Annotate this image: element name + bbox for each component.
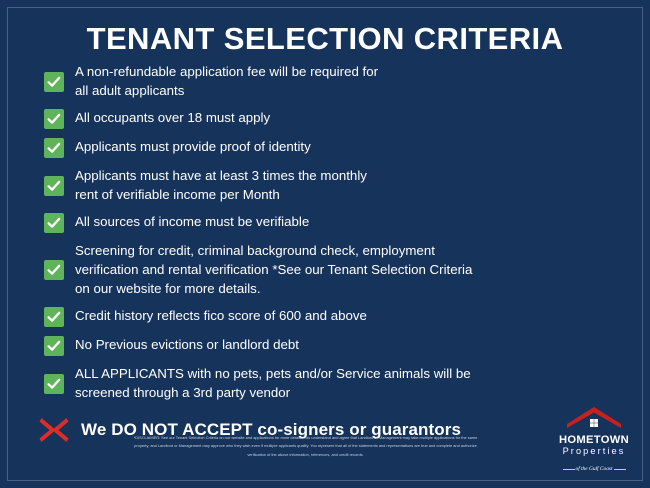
check-icon bbox=[44, 176, 64, 196]
list-item-line: Applicants must provide proof of identit… bbox=[75, 137, 311, 156]
company-logo: HOMETOWN Properties of the Gulf Coast bbox=[550, 406, 638, 475]
list-item-line: on our website for more details. bbox=[75, 279, 472, 298]
page-title: TENANT SELECTION CRITERIA bbox=[0, 21, 650, 57]
list-item-text: ALL APPLICANTS with no pets, pets and/or… bbox=[75, 364, 471, 402]
list-item: All sources of income must be verifiable bbox=[44, 212, 614, 233]
list-item: No Previous evictions or landlord debt bbox=[44, 335, 614, 356]
list-item-line: Credit history reflects fico score of 60… bbox=[75, 306, 367, 325]
check-icon bbox=[44, 138, 64, 158]
criteria-list: A non-refundable application fee will be… bbox=[44, 62, 614, 445]
check-icon bbox=[44, 213, 64, 233]
list-item: Screening for credit, criminal backgroun… bbox=[44, 241, 614, 298]
house-roof-icon bbox=[560, 406, 628, 433]
list-item-text: All sources of income must be verifiable bbox=[75, 212, 309, 231]
list-item-line: Screening for credit, criminal backgroun… bbox=[75, 241, 472, 260]
disclaimer-line: verification of the above information, r… bbox=[62, 451, 549, 459]
list-item-text: A non-refundable application fee will be… bbox=[75, 62, 378, 100]
list-item-text: No Previous evictions or landlord debt bbox=[75, 335, 299, 354]
list-item: ALL APPLICANTS with no pets, pets and/or… bbox=[44, 364, 614, 402]
check-icon bbox=[44, 307, 64, 327]
check-icon bbox=[44, 260, 64, 280]
logo-company-subtitle: Properties bbox=[550, 446, 638, 457]
list-item-line: No Previous evictions or landlord debt bbox=[75, 335, 299, 354]
list-item: A non-refundable application fee will be… bbox=[44, 62, 614, 100]
list-item-line: verification and rental verification *Se… bbox=[75, 260, 472, 279]
check-icon bbox=[44, 72, 64, 92]
list-item-line: Applicants must have at least 3 times th… bbox=[75, 166, 367, 185]
list-item-line: ALL APPLICANTS with no pets, pets and/or… bbox=[75, 364, 471, 383]
check-icon bbox=[44, 109, 64, 129]
list-item: All occupants over 18 must apply bbox=[44, 108, 614, 129]
list-item-text: Credit history reflects fico score of 60… bbox=[75, 306, 367, 325]
logo-tagline: of the Gulf Coast bbox=[563, 465, 626, 473]
list-item-text: Screening for credit, criminal backgroun… bbox=[75, 241, 472, 298]
list-item-text: All occupants over 18 must apply bbox=[75, 108, 270, 127]
list-item-line: rent of verifiable income per Month bbox=[75, 185, 367, 204]
list-item-line: A non-refundable application fee will be… bbox=[75, 62, 378, 81]
list-item-text: Applicants must provide proof of identit… bbox=[75, 137, 311, 156]
list-item: Applicants must have at least 3 times th… bbox=[44, 166, 614, 204]
check-icon bbox=[44, 336, 64, 356]
list-item: Applicants must provide proof of identit… bbox=[44, 137, 614, 158]
list-item-line: all adult applicants bbox=[75, 81, 378, 100]
disclaimer-text: *DISCLAIMER: See our Tenant Selection Cr… bbox=[62, 434, 549, 459]
list-item: Credit history reflects fico score of 60… bbox=[44, 306, 614, 327]
tenant-selection-criteria-poster: TENANT SELECTION CRITERIA A non-refundab… bbox=[0, 0, 650, 488]
list-item-line: All sources of income must be verifiable bbox=[75, 212, 309, 231]
logo-company-name: HOMETOWN bbox=[550, 434, 638, 446]
list-item-text: Applicants must have at least 3 times th… bbox=[75, 166, 367, 204]
disclaimer-line: *DISCLAIMER: See our Tenant Selection Cr… bbox=[62, 434, 549, 442]
list-item-line: All occupants over 18 must apply bbox=[75, 108, 270, 127]
list-item-line: screened through a 3rd party vendor bbox=[75, 383, 471, 402]
disclaimer-line: property, and Landlord or Management may… bbox=[62, 442, 549, 450]
check-icon bbox=[44, 374, 64, 394]
